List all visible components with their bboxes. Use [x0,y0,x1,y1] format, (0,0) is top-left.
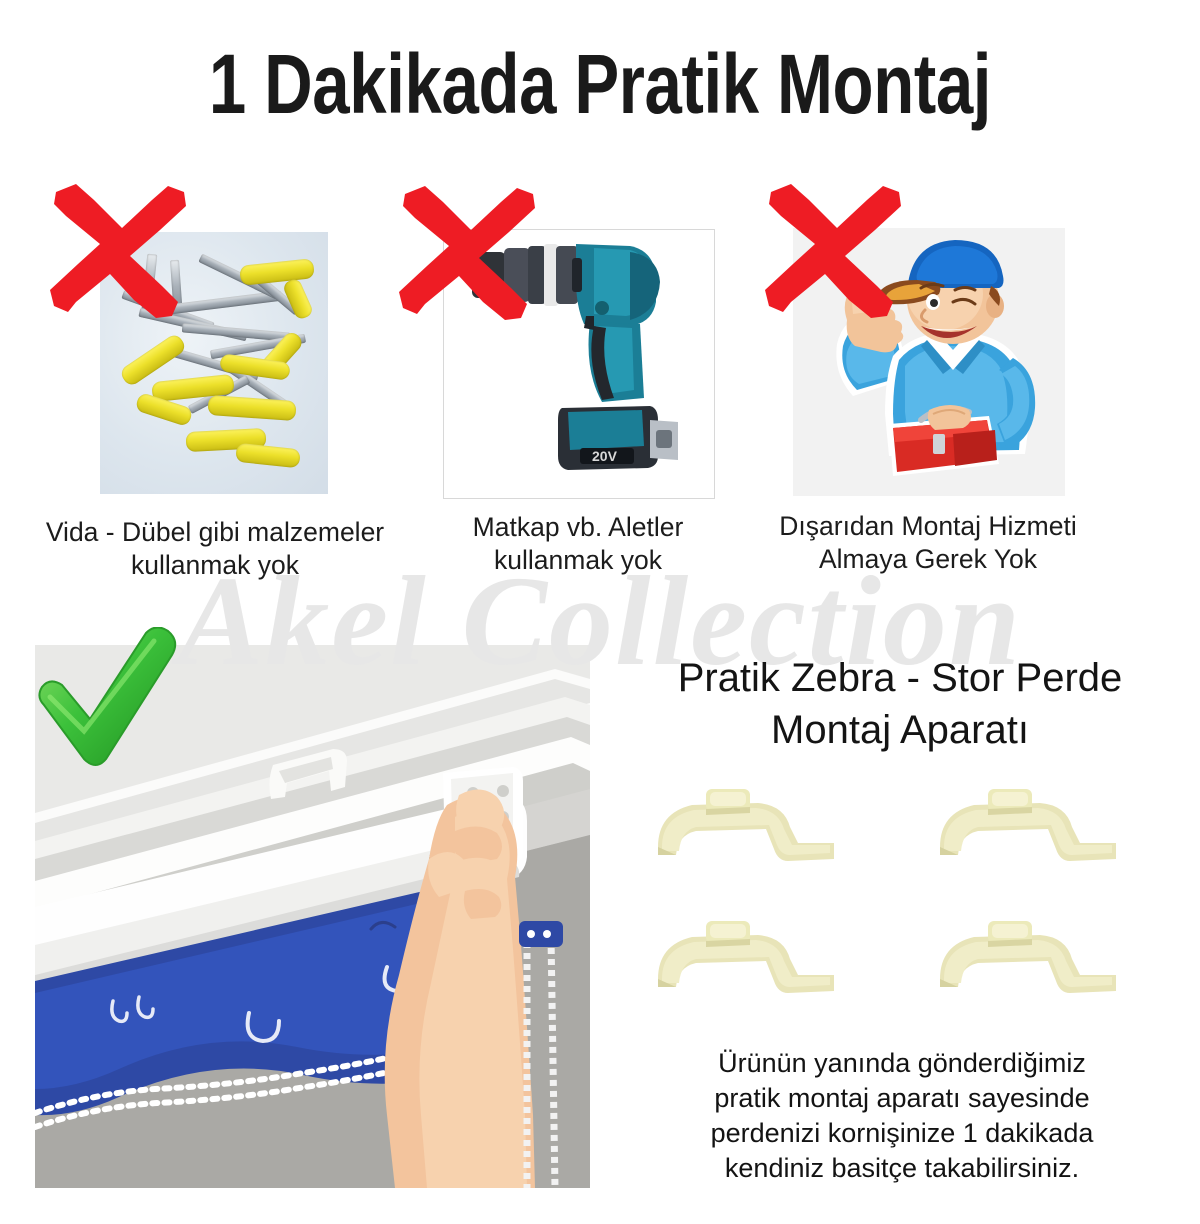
battery-voltage-label: 20V [592,448,618,464]
montaj-aparati-clip [648,915,848,1007]
montaj-aparati-clip [930,783,1130,875]
blind-bracket-installation-photo [35,645,590,1188]
cordless-drill-photo: 20V [443,229,715,499]
montaj-aparati-clip [648,783,848,875]
product-heading: Pratik Zebra - Stor Perde Montaj Aparatı [600,652,1200,756]
no-card-caption: Matkap vb. Aletler kullanmak yok [383,511,773,577]
no-card-caption: Vida - Dübel gibi malzemeler kullanmak y… [0,516,430,582]
page-title: 1 Dakikada Pratik Montaj [120,36,1080,132]
handyman-illustration [793,228,1065,496]
no-card-caption: Dışarıdan Montaj Hizmeti Almaya Gerek Yo… [733,510,1123,576]
mounting-clips-grid [630,775,1175,1020]
montaj-aparati-clip [930,915,1130,1007]
screws-and-wall-plugs-photo [100,232,328,494]
product-description: Ürünün yanında gönderdiğimiz pratik mont… [612,1046,1192,1186]
